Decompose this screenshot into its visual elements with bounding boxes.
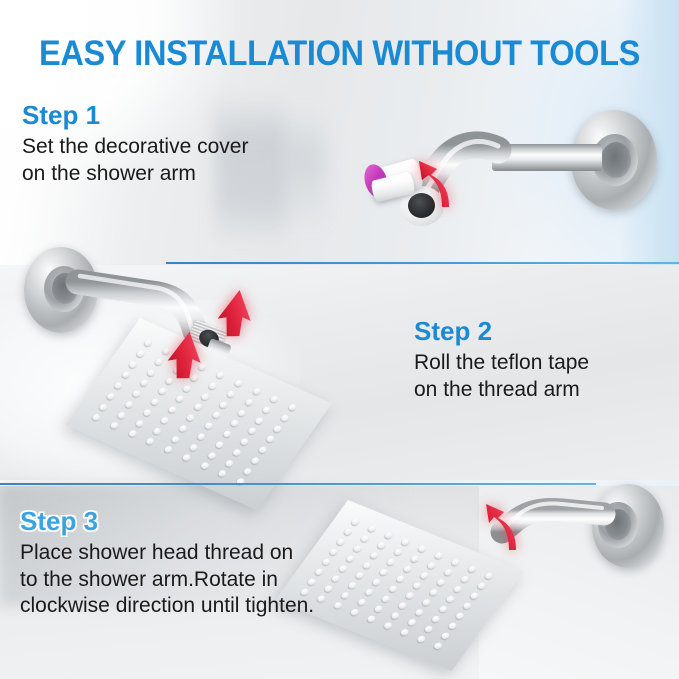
step-3-body: Place shower head thread on to the showe…	[20, 540, 314, 619]
nozzle	[146, 368, 156, 377]
nozzle	[247, 427, 257, 436]
nozzle	[445, 595, 456, 603]
nozzle	[288, 403, 298, 412]
installation-infographic: EASY INSTALLATION WITHOUT TOOLS	[0, 0, 679, 679]
nozzle	[181, 453, 191, 462]
nozzle	[440, 632, 451, 640]
nozzle	[143, 339, 153, 348]
wall-flange-bore	[601, 142, 631, 178]
nozzle	[175, 395, 185, 404]
nozzle	[185, 413, 195, 422]
nozzle	[436, 578, 447, 586]
curved-arrow-icon	[482, 498, 542, 558]
nozzle	[222, 429, 232, 438]
nozzle	[397, 601, 408, 609]
nozzle	[336, 538, 347, 546]
nozzle	[438, 605, 449, 613]
nozzle	[124, 400, 134, 409]
nozzle	[357, 598, 368, 606]
nozzle	[431, 615, 442, 623]
nozzle	[321, 558, 332, 566]
nozzle	[364, 588, 375, 596]
step-2-text: Step 2 Roll the teflon tape on the threa…	[414, 318, 589, 403]
nozzle	[362, 561, 373, 569]
nozzle	[178, 424, 188, 433]
nozzle	[349, 608, 360, 616]
nozzle	[402, 565, 413, 573]
nozzle	[416, 635, 427, 643]
curved-arrow-icon	[415, 155, 475, 215]
nozzle	[333, 601, 344, 609]
nozzle	[199, 461, 209, 470]
page-title: EASY INSTALLATION WITHOUT TOOLS	[24, 34, 655, 74]
nozzle	[476, 582, 487, 590]
nozzle	[208, 381, 218, 390]
nozzle	[200, 392, 210, 401]
nozzle	[433, 642, 444, 650]
nozzle	[121, 371, 131, 380]
nozzle	[393, 548, 404, 556]
step-1-label: Step 1	[22, 102, 248, 129]
nozzle	[232, 448, 242, 457]
nozzle	[452, 585, 463, 593]
step-1-body: Set the decorative cover on the shower a…	[22, 134, 248, 187]
nozzle	[217, 469, 227, 478]
nozzle	[109, 421, 119, 430]
nozzle	[376, 541, 387, 549]
nozzle	[251, 387, 261, 396]
nozzle	[371, 578, 382, 586]
nozzle	[469, 592, 480, 600]
nozzle	[273, 424, 283, 433]
nozzle	[366, 615, 377, 623]
nozzle	[131, 389, 141, 398]
nozzle	[352, 544, 363, 552]
nozzle	[91, 413, 101, 422]
nozzle	[240, 438, 250, 447]
nozzle	[400, 538, 411, 546]
nozzle	[182, 384, 192, 393]
nozzle	[367, 524, 378, 532]
nozzle	[347, 581, 358, 589]
background-blurred-shape-b	[285, 110, 325, 230]
nozzle	[142, 408, 152, 417]
nozzle	[149, 397, 159, 406]
nozzle	[160, 416, 170, 425]
nozzle	[330, 574, 341, 582]
nozzle	[340, 591, 351, 599]
nozzle	[412, 581, 423, 589]
step-3-text: Step 3 Place shower head thread on to th…	[20, 508, 314, 619]
nozzle	[383, 621, 394, 629]
nozzle	[154, 357, 164, 366]
section-divider-2	[0, 483, 596, 485]
nozzle	[255, 416, 265, 425]
nozzle	[343, 528, 354, 536]
nozzle	[128, 360, 138, 369]
nozzle	[265, 435, 275, 444]
nozzle	[229, 419, 239, 428]
nozzle	[462, 602, 473, 610]
nozzle	[345, 554, 356, 562]
nozzle	[421, 598, 432, 606]
nozzle	[139, 379, 149, 388]
step-2-label: Step 2	[414, 318, 589, 345]
nozzle	[428, 588, 439, 596]
nozzle	[280, 414, 290, 423]
nozzle	[460, 575, 471, 583]
straight-arrow-icon	[218, 288, 260, 340]
nozzle	[244, 398, 254, 407]
nozzle	[388, 585, 399, 593]
nozzle	[467, 565, 478, 573]
nozzle	[145, 437, 155, 446]
nozzle	[113, 381, 123, 390]
nozzle	[153, 427, 163, 436]
nozzle	[250, 456, 260, 465]
nozzle	[378, 568, 389, 576]
step-3-label: Step 3	[20, 508, 314, 535]
nozzle	[233, 379, 243, 388]
nozzle	[171, 435, 181, 444]
nozzle	[434, 551, 445, 559]
nozzle	[226, 390, 236, 399]
nozzle	[116, 411, 126, 420]
straight-arrow-icon	[168, 330, 210, 382]
nozzle	[338, 564, 349, 572]
nozzle	[243, 467, 253, 476]
nozzle	[328, 548, 339, 556]
nozzle	[214, 440, 224, 449]
nozzle	[390, 611, 401, 619]
nozzle	[237, 408, 247, 417]
nozzle	[323, 584, 334, 592]
nozzle	[106, 392, 116, 401]
nozzle	[417, 545, 428, 553]
nozzle	[484, 572, 495, 580]
nozzle	[163, 445, 173, 454]
nozzle	[127, 429, 137, 438]
nozzle	[204, 421, 214, 430]
nozzle	[218, 400, 228, 409]
nozzle	[193, 403, 203, 412]
nozzle	[258, 446, 268, 455]
nozzle	[314, 568, 325, 576]
nozzle	[211, 411, 221, 420]
nozzle	[426, 561, 437, 569]
nozzle	[262, 406, 272, 415]
nozzle	[383, 531, 394, 539]
nozzle	[215, 371, 225, 380]
nozzle	[316, 594, 327, 602]
nozzle	[350, 518, 361, 526]
nozzle	[98, 403, 108, 412]
nozzle	[450, 558, 461, 566]
nozzle	[189, 443, 199, 452]
nozzle	[386, 558, 397, 566]
nozzle	[136, 349, 146, 358]
nozzle	[404, 591, 415, 599]
nozzle	[419, 571, 430, 579]
nozzle	[395, 575, 406, 583]
nozzle	[443, 568, 454, 576]
nozzle	[269, 395, 279, 404]
nozzle	[373, 605, 384, 613]
step-2-body: Roll the teflon tape on the thread arm	[414, 350, 589, 403]
nozzle	[381, 595, 392, 603]
nozzle	[134, 419, 144, 428]
nozzle	[354, 571, 365, 579]
nozzle	[196, 432, 206, 441]
nozzle	[360, 534, 371, 542]
nozzle	[369, 551, 380, 559]
nozzle	[410, 555, 421, 563]
nozzle	[407, 618, 418, 626]
nozzle	[414, 608, 425, 616]
nozzle	[399, 628, 410, 636]
nozzle	[225, 459, 235, 468]
step-1-text: Step 1 Set the decorative cover on the s…	[22, 102, 248, 187]
nozzle	[157, 387, 167, 396]
nozzle	[167, 405, 177, 414]
nozzle	[423, 625, 434, 633]
nozzle	[447, 622, 458, 630]
section-divider-1	[166, 262, 679, 264]
nozzle	[207, 451, 217, 460]
nozzle	[455, 612, 466, 620]
